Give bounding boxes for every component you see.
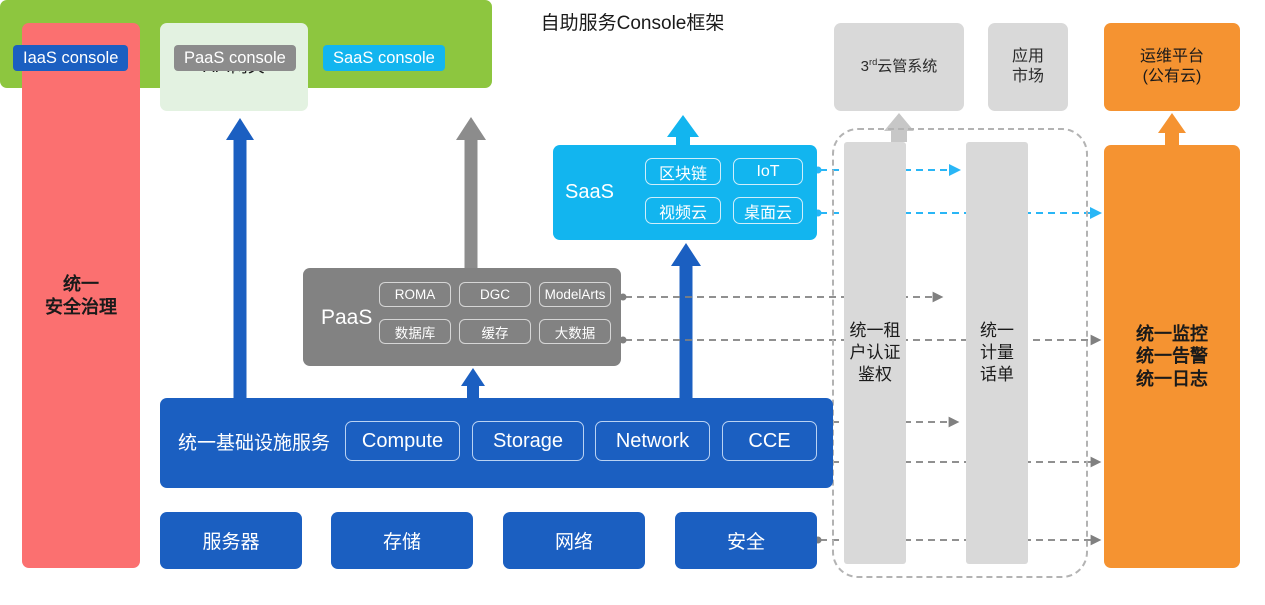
third-party-cloud-label: 3rd云管系统	[861, 57, 938, 77]
paas-chip-cache[interactable]: 缓存	[459, 319, 531, 344]
security-governance-label: 统一 安全治理	[45, 273, 117, 318]
iaas-chip-network[interactable]: Network	[595, 421, 710, 461]
paas-chip-modelarts[interactable]: ModelArts	[539, 282, 611, 307]
saas-chip-blockchain[interactable]: 区块链	[645, 158, 721, 185]
paas-chip-database[interactable]: 数据库	[379, 319, 451, 344]
ops-monitoring-panel[interactable]: 统一监控 统一告警 统一日志	[1104, 145, 1240, 568]
saas-chip-desktop-cloud[interactable]: 桌面云	[733, 197, 803, 224]
third-party-cloud-panel[interactable]: 3rd云管系统	[834, 23, 964, 111]
ops-platform-label: 运维平台 (公有云)	[1140, 47, 1204, 87]
app-market-panel[interactable]: 应用 市场	[988, 23, 1068, 111]
billing-column[interactable]: 统一 计量 话单	[966, 142, 1028, 564]
iaas-chip-cce[interactable]: CCE	[722, 421, 817, 461]
hardware-box-network[interactable]: 网络	[503, 512, 645, 569]
billing-label: 统一 计量 话单	[980, 320, 1014, 386]
iaas-panel[interactable]: 统一基础设施服务 Compute Storage Network CCE	[160, 398, 833, 488]
tenant-auth-column[interactable]: 统一租 户认证 鉴权	[844, 142, 906, 564]
saas-chip-iot[interactable]: IoT	[733, 158, 803, 185]
hardware-box-storage[interactable]: 存储	[331, 512, 473, 569]
saas-panel[interactable]: SaaS 区块链 IoT 视频云 桌面云	[553, 145, 817, 240]
security-governance-panel[interactable]: 统一 安全治理	[22, 23, 140, 568]
iaas-label: 统一基础设施服务	[178, 428, 330, 455]
hardware-box-security[interactable]: 安全	[675, 512, 817, 569]
app-market-label: 应用 市场	[1012, 47, 1044, 87]
paas-label: PaaS	[321, 306, 372, 330]
iaas-chip-compute[interactable]: Compute	[345, 421, 460, 461]
arrow-up-icon-ops	[1158, 113, 1186, 145]
paas-chip-bigdata[interactable]: 大数据	[539, 319, 611, 344]
ops-monitoring-label: 统一监控 统一告警 统一日志	[1136, 323, 1208, 391]
paas-chip-roma[interactable]: ROMA	[379, 282, 451, 307]
ops-platform-panel[interactable]: 运维平台 (公有云)	[1104, 23, 1240, 111]
paas-chip-dgc[interactable]: DGC	[459, 282, 531, 307]
arrow-up-icon-saas-console	[667, 115, 699, 146]
saas-label: SaaS	[565, 181, 614, 204]
arrow-up-icon-iaas-to-paas	[461, 368, 485, 398]
iaas-console-chip[interactable]: IaaS console	[13, 45, 128, 71]
tenant-auth-label: 统一租 户认证 鉴权	[850, 320, 901, 386]
hardware-box-server[interactable]: 服务器	[160, 512, 302, 569]
paas-panel[interactable]: PaaS ROMA DGC ModelArts 数据库 缓存 大数据	[303, 268, 621, 366]
saas-chip-video-cloud[interactable]: 视频云	[645, 197, 721, 224]
paas-console-chip[interactable]: PaaS console	[174, 45, 296, 71]
arrow-up-icon-apigw	[226, 118, 254, 398]
arrow-up-icon-paas-console	[456, 117, 486, 268]
console-framework-title: 自助服务Console框架	[0, 8, 1265, 35]
iaas-chip-storage[interactable]: Storage	[472, 421, 584, 461]
architecture-diagram: 统一 安全治理 API网关 自助服务Console框架 IaaS console…	[0, 0, 1265, 605]
arrow-up-icon-iaas-to-saas	[671, 243, 701, 398]
saas-console-chip[interactable]: SaaS console	[323, 45, 445, 71]
